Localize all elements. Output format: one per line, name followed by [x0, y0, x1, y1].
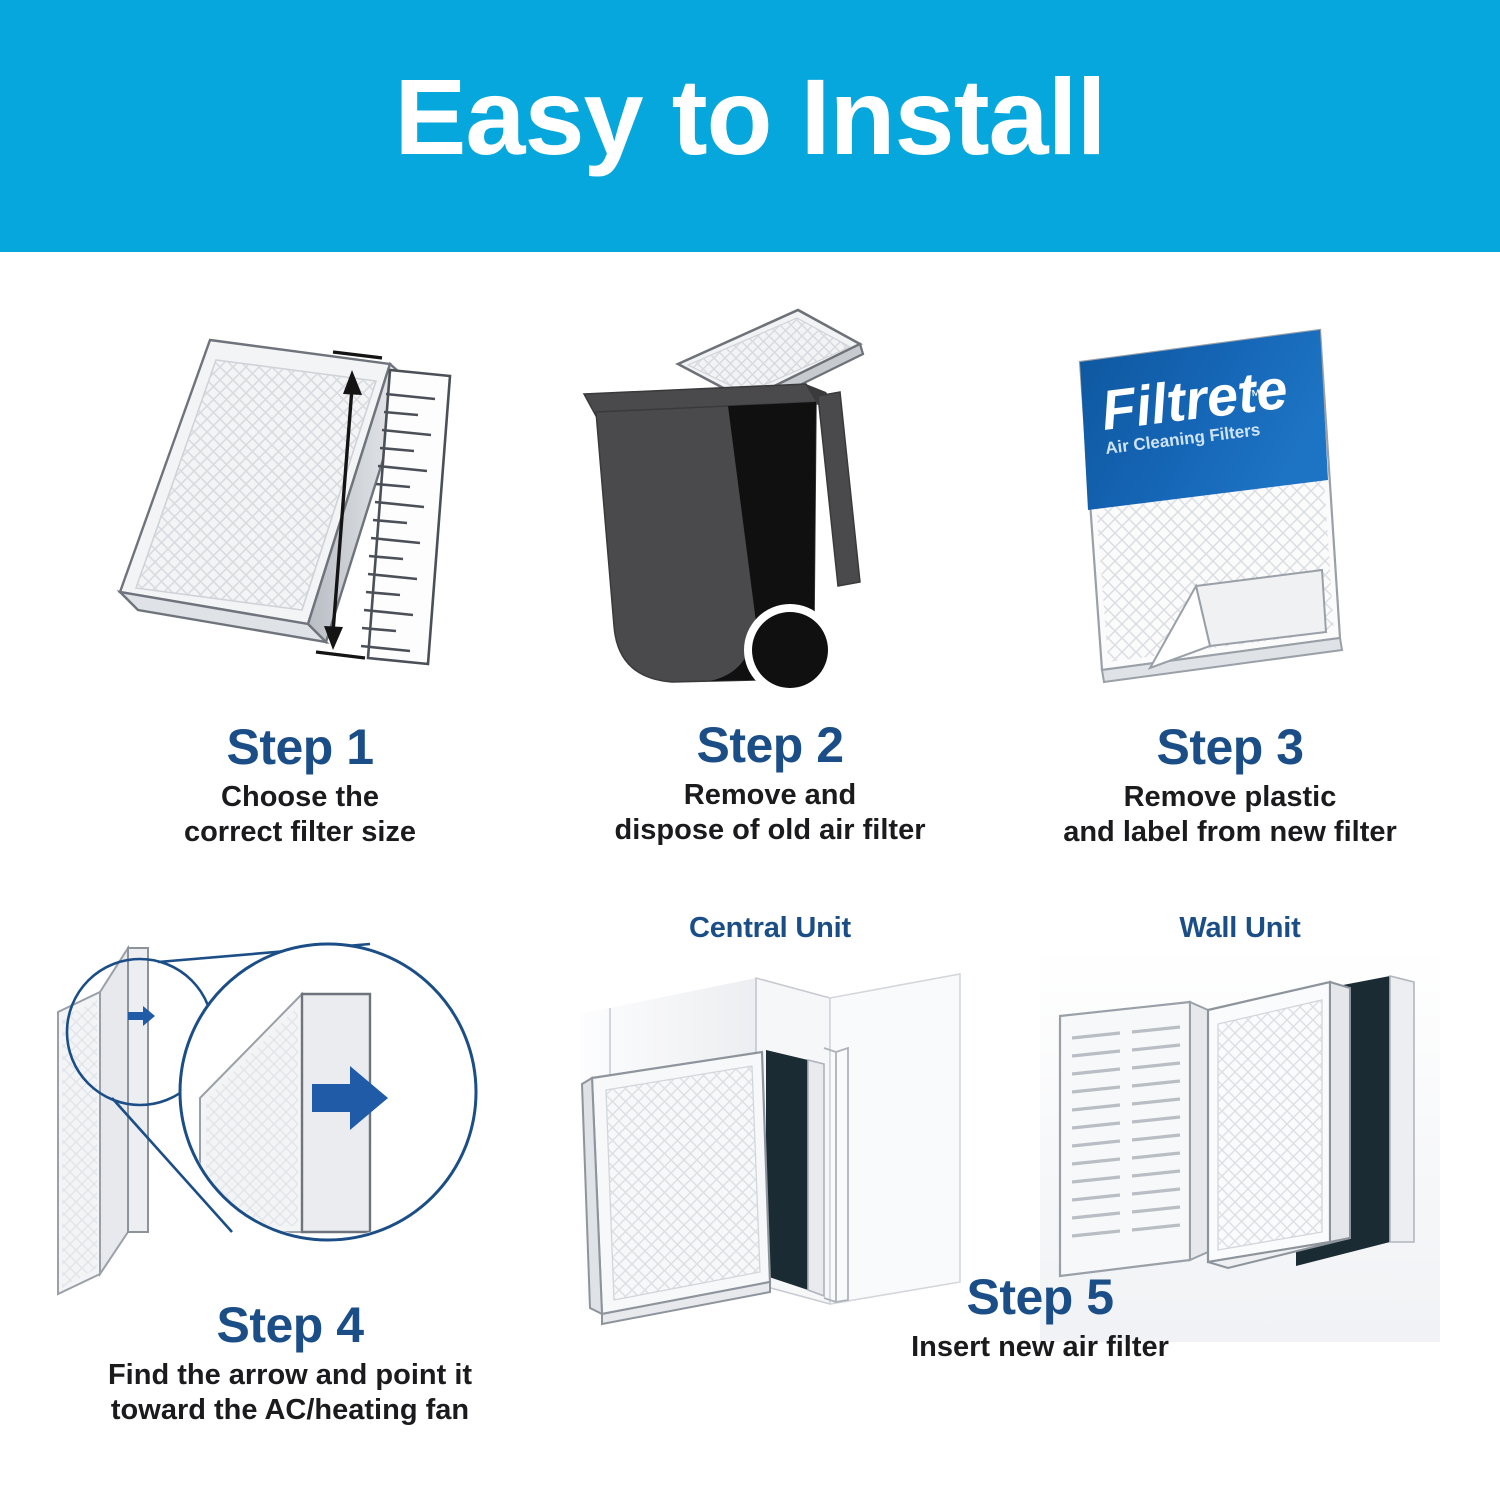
filter-slot-opening — [766, 1050, 824, 1296]
step-4-cell: Step 4 Find the arrow and point it towar… — [40, 902, 540, 1462]
page-title: Easy to Install — [394, 63, 1105, 189]
step-3-text: Step 3 Remove plastic and label from new… — [1010, 722, 1450, 851]
step-1-text: Step 1 Choose the correct filter size — [90, 722, 510, 851]
step-5-heading: Step 5 — [790, 1272, 1290, 1323]
filter-edge-view — [58, 948, 148, 1294]
steps-sheet: Step 1 Choose the correct filter size — [0, 252, 1500, 1500]
step-3-illustration: Filtrete ™ Air Cleaning Filters — [1010, 302, 1450, 702]
inserting-filter — [582, 1052, 770, 1324]
step-2-heading: Step 2 — [560, 720, 980, 771]
wall-unit-label: Wall Unit — [1040, 912, 1440, 945]
brand-trademark: ™ — [1244, 387, 1262, 406]
central-unit-label: Central Unit — [580, 912, 960, 945]
step-3-caption: Remove plastic and label from new filter — [1010, 780, 1450, 851]
step-4-caption: Find the arrow and point it toward the A… — [40, 1358, 540, 1429]
step-4-illustration — [40, 902, 540, 1302]
step-2-cell: Step 2 Remove and dispose of old air fil… — [560, 292, 980, 922]
step-1-illustration — [90, 302, 510, 702]
step-1-caption: Choose the correct filter size — [90, 780, 510, 851]
step-5-text: Step 5 Insert new air filter — [790, 1272, 1290, 1365]
step-2-text: Step 2 Remove and dispose of old air fil… — [560, 720, 980, 849]
step-1-heading: Step 1 — [90, 722, 510, 773]
magnifier-large — [180, 944, 476, 1240]
step-2-illustration — [560, 292, 980, 702]
step-4-text: Step 4 Find the arrow and point it towar… — [40, 1300, 540, 1429]
step-5-caption: Insert new air filter — [790, 1330, 1290, 1365]
step-1-cell: Step 1 Choose the correct filter size — [90, 302, 510, 922]
step-3-cell: Filtrete ™ Air Cleaning Filters Step 3 R… — [1010, 302, 1450, 922]
step-3-heading: Step 3 — [1010, 722, 1450, 773]
step-4-heading: Step 4 — [40, 1300, 540, 1351]
step-2-caption: Remove and dispose of old air filter — [560, 778, 980, 849]
wall-unit-filter — [1208, 982, 1350, 1268]
header-banner: Easy to Install — [0, 0, 1500, 252]
filter-body — [120, 340, 408, 642]
bin-lid-bar — [818, 392, 860, 586]
louvered-vent-door — [1060, 1002, 1208, 1276]
bin-wheel — [744, 604, 836, 696]
